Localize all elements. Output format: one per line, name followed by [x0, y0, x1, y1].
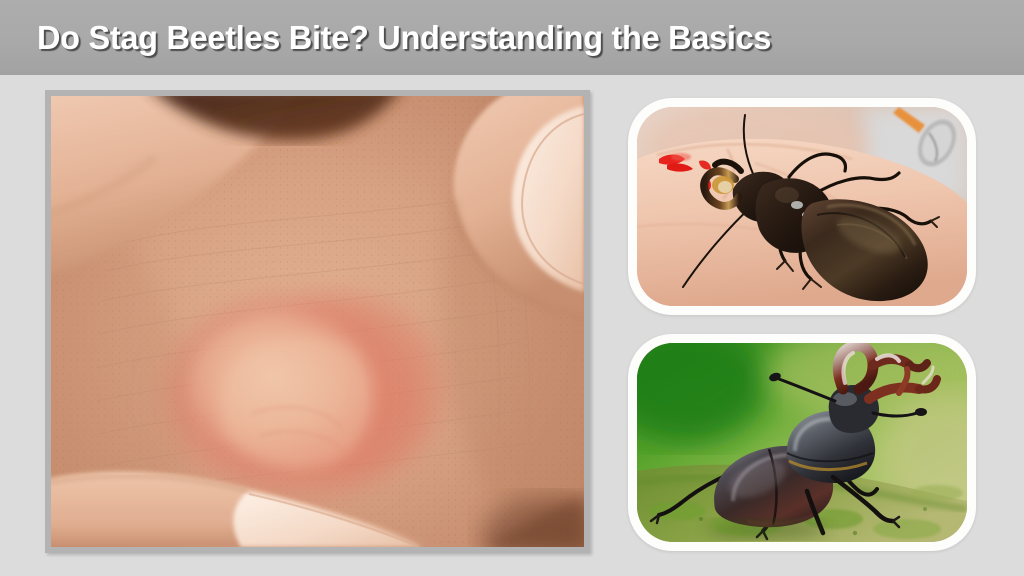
- stag-beetle-photo: [637, 343, 967, 542]
- beetle-on-hand-photo: [637, 107, 967, 306]
- header-banner: Do Stag Beetles Bite? Understanding the …: [0, 0, 1024, 75]
- page-title: Do Stag Beetles Bite? Understanding the …: [37, 19, 771, 57]
- insect-bite-welt-illustration: [51, 96, 584, 547]
- stag-beetle-illustration: [637, 343, 967, 542]
- top-right-photo-card: [628, 98, 976, 315]
- beetle-bite-hand-illustration: [637, 107, 967, 306]
- main-photo-frame: [45, 90, 590, 553]
- main-photo: [51, 96, 584, 547]
- bottom-right-photo-card: [628, 334, 976, 551]
- slide-canvas: Do Stag Beetles Bite? Understanding the …: [0, 0, 1024, 576]
